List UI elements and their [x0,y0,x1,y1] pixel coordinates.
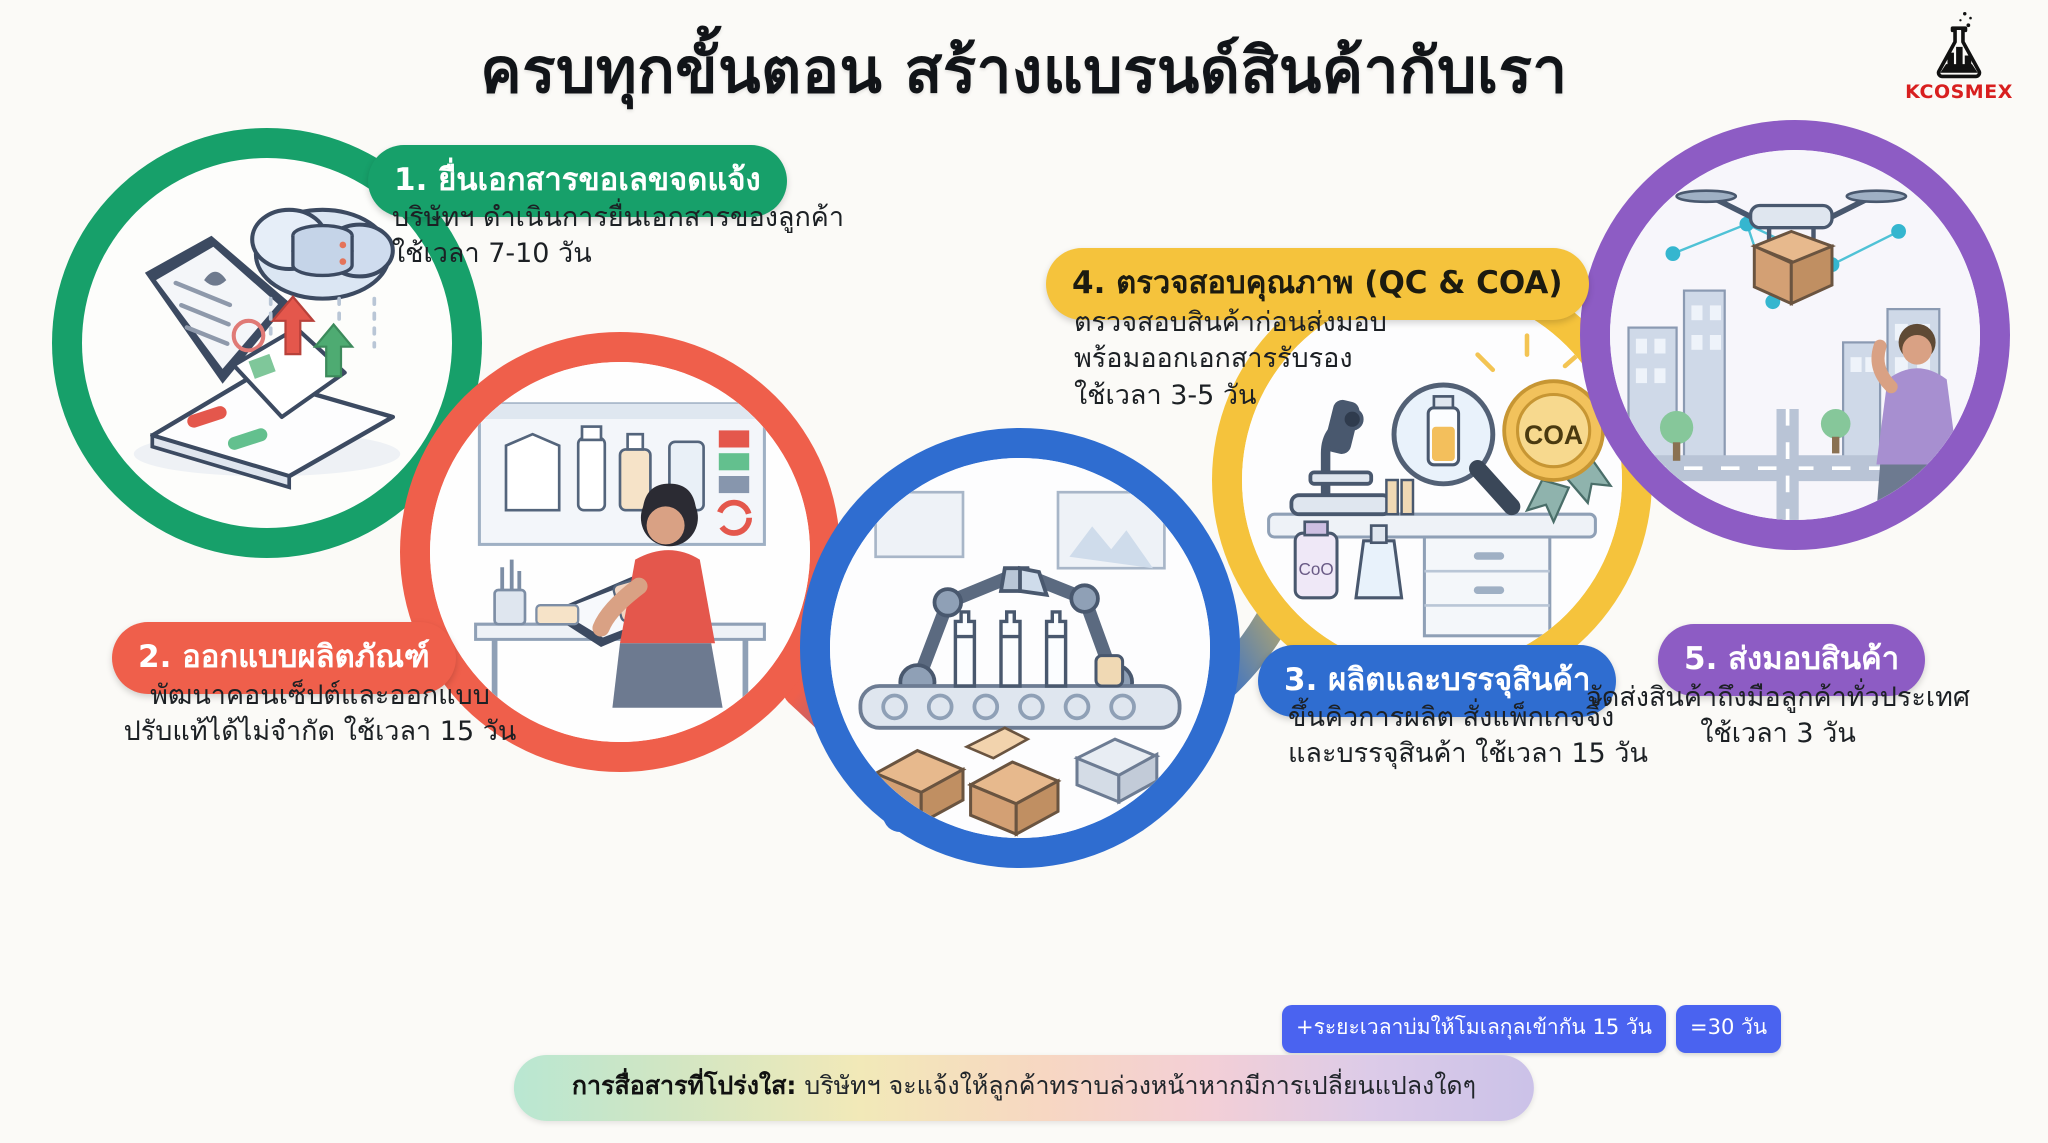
badge-curing-time: +ระยะเวลาบ่มให้โมเลกุลเข้ากัน 15 วัน [1282,1005,1666,1053]
badge-total-days: =30 วัน [1676,1005,1781,1053]
production-line-illustration [830,458,1210,838]
step-4-description: ตรวจสอบสินค้าก่อนส่งมอบ พร้อมออกเอกสารรั… [1074,305,1544,414]
footer-text: บริษัทฯ จะแจ้งให้ลูกค้าทราบล่วงหน้าหากมี… [796,1071,1476,1100]
footer-banner: การสื่อสารที่โปร่งใส: บริษัทฯ จะแจ้งให้ล… [514,1055,1534,1121]
drone-delivery-illustration [1610,150,1980,520]
step-5-description: จัดส่งสินค้าถึงมือลูกค้าทั่วประเทศ ใช้เว… [1528,680,2028,753]
page-title: ครบทุกขั้นตอน สร้างแบรนด์สินค้ากับเรา [0,22,2048,120]
logo-text: KCOSMEX [1884,81,2034,103]
infographic-canvas: ครบทุกขั้นตอน สร้างแบรนด์สินค้ากับเรา KC… [0,0,2048,1143]
step-3-badges: +ระยะเวลาบ่มให้โมเลกุลเข้ากัน 15 วัน =30… [1282,1005,1781,1053]
flask-icon [1923,8,1995,80]
brand-logo: KCOSMEX [1884,8,2034,103]
step-3-circle [800,428,1240,868]
step-5-circle [1580,120,2010,550]
step-2-description: พัฒนาคอนเซ็ปต์และออกแบบ ปรับแท้ได้ไม่จำก… [60,678,580,751]
footer-highlight: การสื่อสารที่โปร่งใส: [572,1071,796,1100]
coo-bottle-label: CoO [1299,560,1334,579]
coa-seal-label: COA [1524,420,1583,450]
step-1-description: บริษัทฯ ดำเนินการยื่นเอกสารของลูกค้า ใช้… [392,200,862,273]
